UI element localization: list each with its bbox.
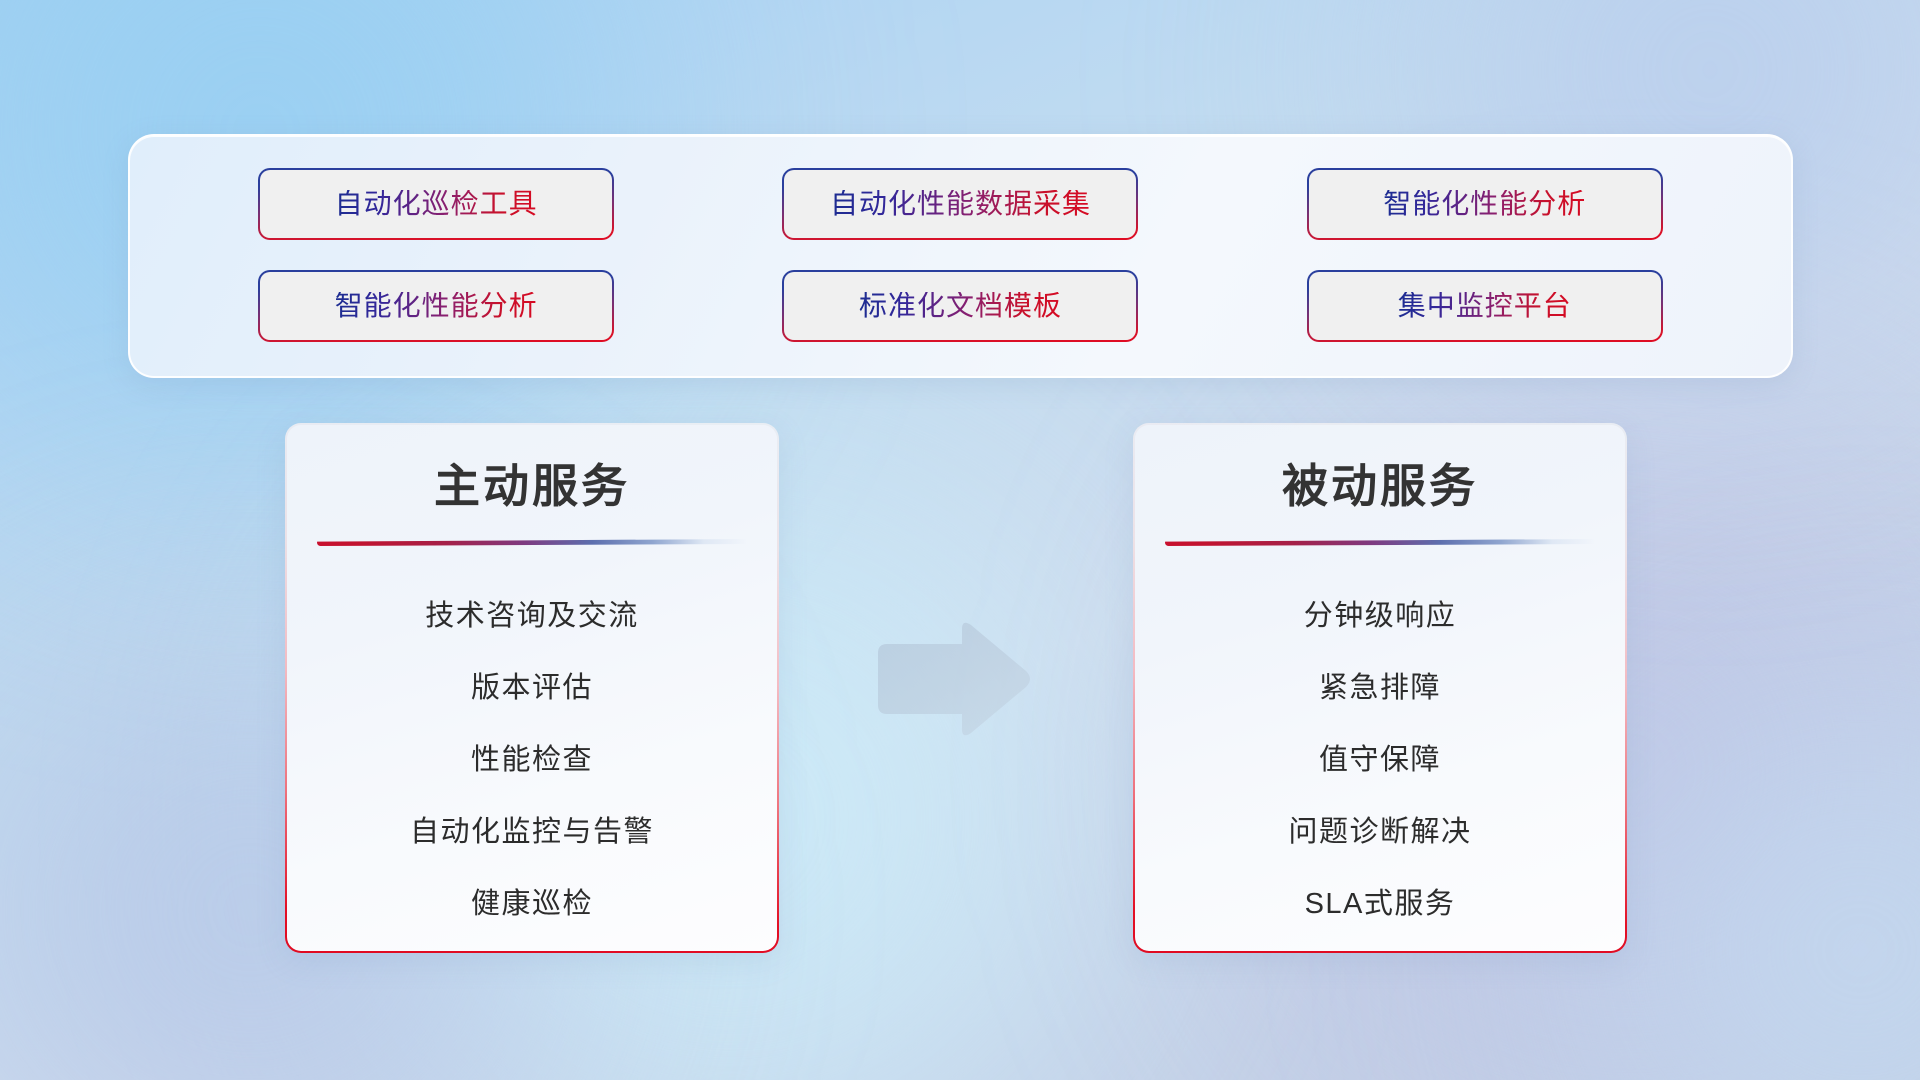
service-card-divider: [1165, 539, 1595, 546]
capability-pill[interactable]: 智能化性能分析: [1307, 168, 1663, 240]
service-item-list: 分钟级响应 紧急排障 值守保障 问题诊断解决 SLA式服务: [1135, 580, 1625, 940]
service-card-active: 主动服务 技术咨询及交流 版本评估 性能检查 自动化监控与告警 健康巡检: [285, 423, 779, 953]
service-list-item: 性能检查: [471, 724, 593, 796]
service-list-item: 问题诊断解决: [1288, 796, 1471, 868]
service-list-item: 紧急排障: [1319, 652, 1441, 724]
capability-pill-label: 自动化性能数据采集: [830, 190, 1091, 218]
capability-pill[interactable]: 自动化性能数据采集: [782, 168, 1138, 240]
service-card-divider: [317, 539, 747, 546]
capability-pill[interactable]: 集中监控平台: [1307, 270, 1663, 342]
capability-pill[interactable]: 智能化性能分析: [258, 270, 614, 342]
capability-pill-label: 自动化巡检工具: [335, 190, 538, 218]
capability-pill-label: 标准化文档模板: [859, 292, 1062, 320]
capability-pill-label: 集中监控平台: [1398, 292, 1572, 320]
service-list-item: 值守保障: [1319, 724, 1441, 796]
service-list-item: 自动化监控与告警: [410, 796, 654, 868]
service-list-item: 版本评估: [471, 652, 593, 724]
capability-pill[interactable]: 自动化巡检工具: [258, 168, 614, 240]
capability-panel: 自动化巡检工具 自动化性能数据采集 智能化性能分析 智能化性能分析 标准化文档模…: [128, 134, 1793, 378]
service-list-item: SLA式服务: [1305, 868, 1456, 940]
capability-pill[interactable]: 标准化文档模板: [782, 270, 1138, 342]
service-item-list: 技术咨询及交流 版本评估 性能检查 自动化监控与告警 健康巡检: [287, 580, 777, 940]
service-card-passive: 被动服务 分钟级响应 紧急排障 值守保障 问题诊断解决 SLA式服务: [1133, 423, 1627, 953]
service-list-item: 健康巡检: [471, 868, 593, 940]
right-arrow-icon: [874, 619, 1034, 739]
service-list-item: 技术咨询及交流: [425, 580, 639, 652]
capability-pill-label: 智能化性能分析: [335, 292, 538, 320]
service-list-item: 分钟级响应: [1304, 580, 1457, 652]
service-card-title: 主动服务: [434, 463, 630, 509]
service-card-title: 被动服务: [1282, 463, 1478, 509]
capability-pill-label: 智能化性能分析: [1383, 190, 1586, 218]
